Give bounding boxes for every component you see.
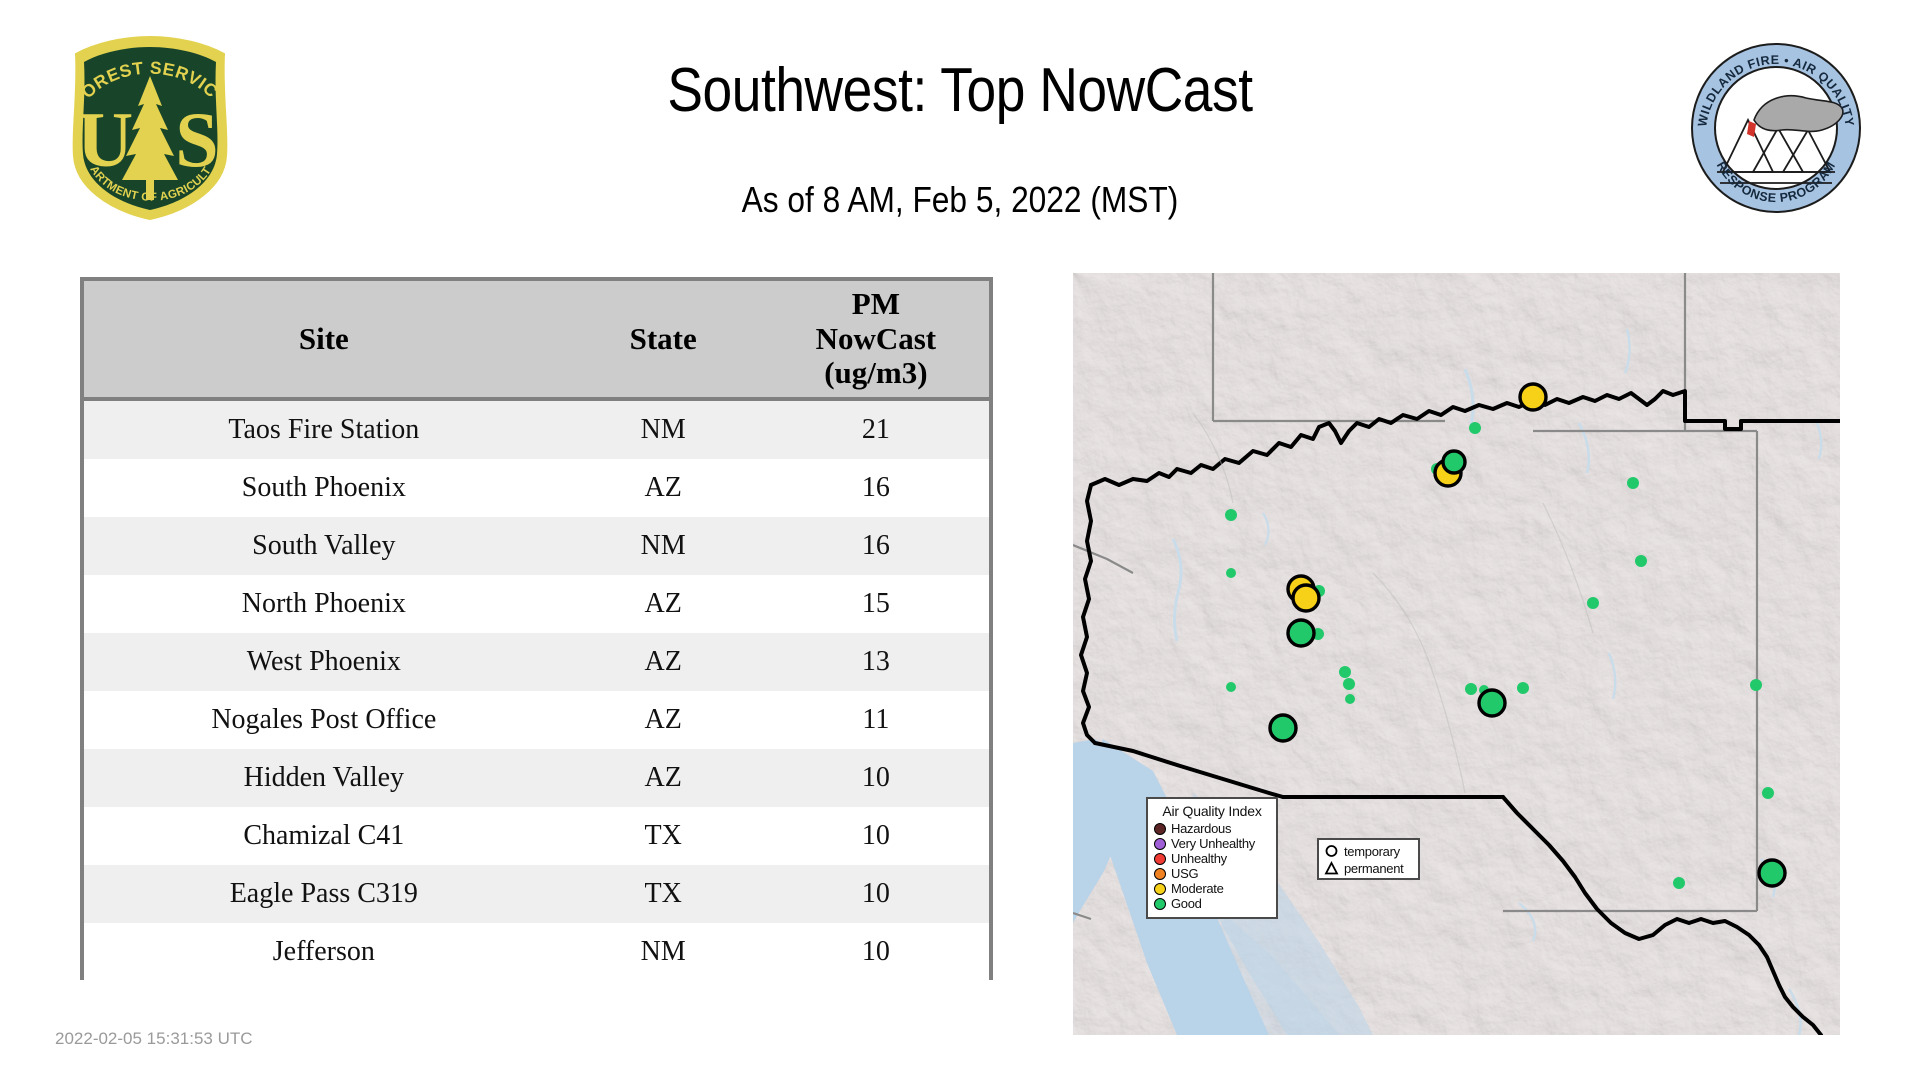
pm-cell: 10 xyxy=(763,865,989,923)
page-subtitle: As of 8 AM, Feb 5, 2022 (MST) xyxy=(432,182,1488,218)
table-row: South PhoenixAZ16 xyxy=(84,459,989,517)
state-cell: NM xyxy=(564,399,763,459)
site-type-temporary-label: temporary xyxy=(1344,845,1400,858)
site-type-permanent: permanent xyxy=(1324,860,1413,877)
site-cell: Hidden Valley xyxy=(84,749,564,807)
top-nowcast-table-container: Site State PM NowCast (ug/m3) Taos Fire … xyxy=(80,277,993,980)
state-cell: TX xyxy=(564,807,763,865)
map-marker-taos-fire-station[interactable] xyxy=(1520,384,1546,410)
pm-cell: 16 xyxy=(763,459,989,517)
forest-service-shield-icon: U S FOREST SERVICE DEPARTMENT OF AGRICUL… xyxy=(58,34,243,222)
legend-item-label: Very Unhealthy xyxy=(1171,837,1255,850)
table-row: Hidden ValleyAZ10 xyxy=(84,749,989,807)
site-cell: Nogales Post Office xyxy=(84,691,564,749)
site-cell: West Phoenix xyxy=(84,633,564,691)
map-canvas xyxy=(1073,273,1840,1035)
state-cell: NM xyxy=(564,923,763,981)
legend-color-swatch-icon xyxy=(1154,853,1166,865)
southwest-air-quality-map[interactable]: Air Quality Index HazardousVery Unhealth… xyxy=(1073,273,1840,1035)
site-cell: South Valley xyxy=(84,517,564,575)
table-row: Nogales Post OfficeAZ11 xyxy=(84,691,989,749)
legend-color-swatch-icon xyxy=(1154,838,1166,850)
map-marker-west-phoenix[interactable] xyxy=(1288,620,1314,646)
map-marker-south-valley[interactable] xyxy=(1443,451,1465,473)
map-marker-site-small-6[interactable] xyxy=(1343,678,1355,690)
map-marker-site-small-5[interactable] xyxy=(1339,666,1351,678)
pm-cell: 10 xyxy=(763,807,989,865)
legend-item: Unhealthy xyxy=(1154,851,1270,866)
usda-forest-service-logo: U S FOREST SERVICE DEPARTMENT OF AGRICUL… xyxy=(58,34,243,222)
state-cell: AZ xyxy=(564,749,763,807)
triangle-outline-icon xyxy=(1324,861,1339,876)
state-cell: TX xyxy=(564,865,763,923)
map-marker-site-small-17[interactable] xyxy=(1762,787,1774,799)
column-header-pm-nowcast: PM NowCast (ug/m3) xyxy=(763,281,989,399)
svg-text:U: U xyxy=(77,96,133,183)
pm-cell: 10 xyxy=(763,749,989,807)
site-cell: Chamizal C41 xyxy=(84,807,564,865)
map-marker-site-small-19[interactable] xyxy=(1750,679,1762,691)
legend-item: USG xyxy=(1154,866,1270,881)
page-header: U S FOREST SERVICE DEPARTMENT OF AGRICUL… xyxy=(0,0,1920,268)
legend-color-swatch-icon xyxy=(1154,898,1166,910)
map-marker-site-small-12[interactable] xyxy=(1517,682,1529,694)
table-row: JeffersonNM10 xyxy=(84,923,989,981)
site-cell: South Phoenix xyxy=(84,459,564,517)
site-cell: Eagle Pass C319 xyxy=(84,865,564,923)
air-quality-index-legend: Air Quality Index HazardousVery Unhealth… xyxy=(1146,797,1278,919)
pm-header-line-2: NowCast xyxy=(816,321,937,356)
legend-item-label: Moderate xyxy=(1171,882,1224,895)
pm-header-line-3: (ug/m3) xyxy=(824,355,927,390)
pm-cell: 15 xyxy=(763,575,989,633)
map-marker-site-small-8[interactable] xyxy=(1226,682,1236,692)
legend-item-label: Good xyxy=(1171,897,1202,910)
pm-cell: 16 xyxy=(763,517,989,575)
map-marker-chamizal-c41[interactable] xyxy=(1479,690,1505,716)
column-header-site: Site xyxy=(84,281,564,399)
state-cell: AZ xyxy=(564,575,763,633)
map-marker-site-small-9[interactable] xyxy=(1469,422,1481,434)
legend-color-swatch-icon xyxy=(1154,823,1166,835)
map-marker-site-small-2[interactable] xyxy=(1226,568,1236,578)
legend-item: Moderate xyxy=(1154,881,1270,896)
legend-color-swatch-icon xyxy=(1154,868,1166,880)
map-marker-south-phoenix[interactable] xyxy=(1293,585,1319,611)
column-header-state: State xyxy=(564,281,763,399)
pm-cell: 10 xyxy=(763,923,989,981)
map-marker-nogales-post-office[interactable] xyxy=(1270,715,1296,741)
table-row: Taos Fire StationNM21 xyxy=(84,399,989,459)
legend-item: Very Unhealthy xyxy=(1154,836,1270,851)
pm-cell: 21 xyxy=(763,399,989,459)
state-cell: NM xyxy=(564,517,763,575)
table-row: Eagle Pass C319TX10 xyxy=(84,865,989,923)
legend-color-swatch-icon xyxy=(1154,883,1166,895)
generation-timestamp: 2022-02-05 15:31:53 UTC xyxy=(55,1029,253,1049)
map-marker-site-small-16[interactable] xyxy=(1673,877,1685,889)
table-row: West PhoenixAZ13 xyxy=(84,633,989,691)
legend-item: Good xyxy=(1154,896,1270,911)
table-body: Taos Fire StationNM21South PhoenixAZ16So… xyxy=(84,399,989,981)
legend-item: Hazardous xyxy=(1154,821,1270,836)
circle-outline-icon xyxy=(1324,844,1339,859)
legend-item-label: Hazardous xyxy=(1171,822,1231,835)
map-marker-site-small-11[interactable] xyxy=(1465,683,1477,695)
site-type-permanent-label: permanent xyxy=(1344,862,1403,875)
site-type-temporary: temporary xyxy=(1324,843,1413,860)
state-cell: AZ xyxy=(564,691,763,749)
map-marker-site-small-14[interactable] xyxy=(1635,555,1647,567)
site-cell: Taos Fire Station xyxy=(84,399,564,459)
pm-header-line-1: PM xyxy=(852,286,900,321)
legend-item-label: Unhealthy xyxy=(1171,852,1227,865)
map-marker-site-small-15[interactable] xyxy=(1587,597,1599,609)
legend-rows: HazardousVery UnhealthyUnhealthyUSGModer… xyxy=(1154,821,1270,911)
wildland-fire-air-quality-seal-icon: WILDLAND FIRE • AIR QUALITY RESPONSE PRO… xyxy=(1690,42,1862,214)
map-marker-site-small-13[interactable] xyxy=(1627,477,1639,489)
table-row: North PhoenixAZ15 xyxy=(84,575,989,633)
table-header: Site State PM NowCast (ug/m3) xyxy=(84,281,989,399)
site-cell: North Phoenix xyxy=(84,575,564,633)
map-marker-site-small-1[interactable] xyxy=(1225,509,1237,521)
pm-cell: 13 xyxy=(763,633,989,691)
state-cell: AZ xyxy=(564,633,763,691)
site-type-legend: temporary permanent xyxy=(1317,838,1420,880)
legend-title: Air Quality Index xyxy=(1154,803,1270,819)
table-row: South ValleyNM16 xyxy=(84,517,989,575)
site-cell: Jefferson xyxy=(84,923,564,981)
map-marker-eagle-pass-c319[interactable] xyxy=(1759,860,1785,886)
top-nowcast-table: Site State PM NowCast (ug/m3) Taos Fire … xyxy=(84,281,989,981)
table-row: Chamizal C41TX10 xyxy=(84,807,989,865)
svg-text:S: S xyxy=(175,96,218,183)
wfaqrp-logo: WILDLAND FIRE • AIR QUALITY RESPONSE PRO… xyxy=(1690,42,1862,214)
legend-item-label: USG xyxy=(1171,867,1198,880)
state-cell: AZ xyxy=(564,459,763,517)
pm-cell: 11 xyxy=(763,691,989,749)
page-title: Southwest: Top NowCast xyxy=(444,60,1476,122)
map-marker-site-small-7[interactable] xyxy=(1345,694,1355,704)
